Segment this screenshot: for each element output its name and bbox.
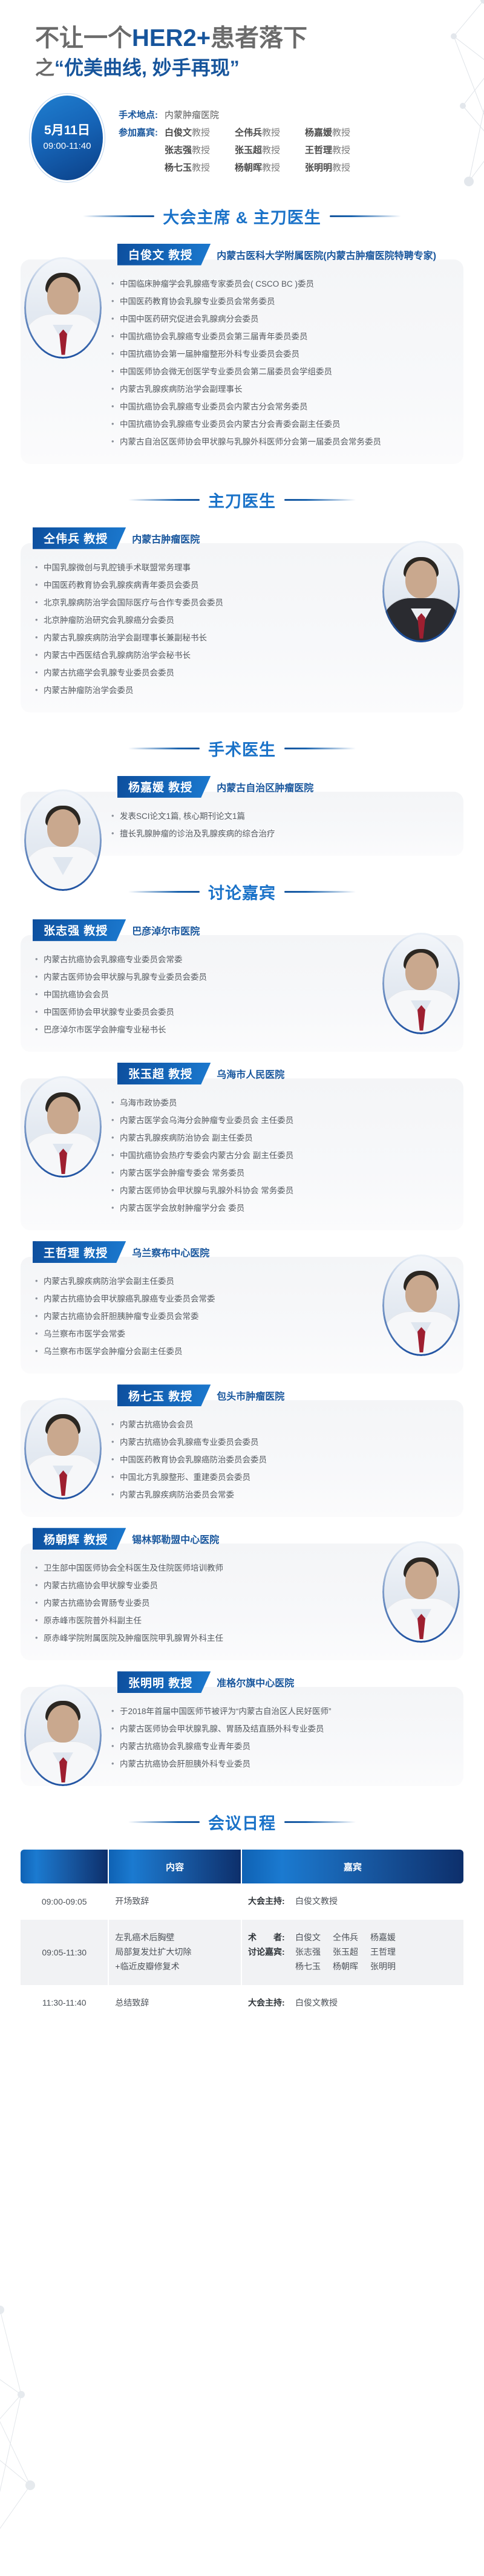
section-header-agenda: 会议日程 [0,1810,484,1834]
credential-item: 内蒙古抗癌协会会员 [111,1416,449,1433]
agenda-guests: 大会主持:白俊文教授 [242,1883,463,1920]
agenda-guest-name: 张志强 [295,1945,333,1960]
photo-tie [59,330,67,355]
credential-item: 内蒙古抗癌协会乳腺癌专业委员会委员 [111,1433,449,1451]
guest-lines: 参加嘉宾:白俊文教授仝伟兵教授杨嘉媛教授参加嘉宾:张志强教授张玉超教授王哲理教授… [119,124,484,177]
credential-item: 卫生部中国医师协会全科医生及住院医师培训教师 [35,1559,373,1577]
photo-tie [417,1005,425,1031]
photo-coat [24,1455,102,1499]
divider-right [330,215,401,217]
guest-name: 张玉超教授 [235,142,305,159]
credential-item: 原赤峰学院附属医院及肿瘤医院甲乳腺胃外科主任 [35,1629,373,1647]
photo-background [24,1684,102,1786]
credential-item: 中国医药教育协会乳腺疾病青年委员会委员 [35,576,373,594]
credential-item: 中国中医药研究促进会乳腺病分会委员 [111,310,449,328]
credential-item: 中国抗癌协会乳腺癌专业委员会第三届青年委员委员 [111,328,449,345]
doctor-card-inner: 杨七玉 教授包头市肿瘤医院内蒙古抗癌协会会员内蒙古抗癌协会乳腺癌专业委员会委员中… [21,1384,463,1517]
divider-left [128,499,200,501]
location-label: 手术地点: [119,106,165,124]
section-title: 大会主席 & 主刀医生 [163,204,321,228]
doctor-photo [382,541,460,642]
title-prefix: 不让一个 [35,25,132,51]
doctor-card-inner: 仝伟兵 教授内蒙古肿瘤医院中国乳腺微创与乳腔镜手术联盟常务理事中国医药教育协会乳… [21,527,463,712]
agenda-guest-row: 术 者:白俊文仝伟兵杨嘉媛 [248,1931,457,1945]
divider-left [128,1821,200,1823]
photo-face [405,561,437,598]
doctor-name-tag: 张玉超 教授 [117,1063,211,1084]
guest-row: 参加嘉宾:白俊文教授仝伟兵教授杨嘉媛教授 [119,124,484,142]
doctor-credentials-list: 内蒙古乳腺疾病防治学会副主任委员内蒙古抗癌协会甲状腺癌乳腺癌专业委员会常委内蒙古… [35,1273,373,1360]
credential-item: 内蒙古医师协会甲状腺与乳腺外科协会 常务委员 [111,1182,449,1199]
guest-name: 张明明教授 [305,159,375,177]
photo-tie [417,1327,425,1352]
doctor-name-tag: 杨嘉媛 教授 [117,776,211,798]
photo-background [382,1254,460,1356]
photo-hair [45,1414,80,1435]
doctor-card-inner: 杨嘉媛 教授内蒙古自治区肿瘤医院发表SCI论文1篇, 核心期刊论文1篇擅长乳腺肿… [21,776,463,856]
agenda-guest-row: 大会主持:白俊文教授 [248,1996,457,2010]
photo-background [382,933,460,1034]
doctor-card: 张玉超 教授乌海市人民医院乌海市政协委员内蒙古医学会乌海分会肿瘤专业委员会 主任… [0,1063,484,1230]
credential-item: 乌海市政协委员 [111,1094,449,1112]
doctor-photo [24,257,102,359]
photo-background [382,1541,460,1643]
section-title: 会议日程 [208,1810,276,1834]
agenda-guest-role: 大会主持: [248,1894,295,1909]
credential-item: 中国抗癌协会第一届肿瘤整形外科专业委员会委员 [111,345,449,363]
credential-item: 中国临床肿瘤学会乳腺癌专家委员会( CSCO BC )委员 [111,275,449,293]
agenda-guest-name: 仝伟兵 [333,1931,370,1945]
agenda-guest-name: 张明明 [370,1960,408,1974]
photo-background [24,1398,102,1499]
doctor-slot-chair: 白俊文 教授内蒙古医科大学附属医院(内蒙古肿瘤医院特聘专家)中国临床肿瘤学会乳腺… [0,244,484,464]
section-title: 讨论嘉宾 [208,880,276,904]
agenda-column-header-0 [21,1850,109,1883]
credential-item: 中国抗癌协会会员 [35,986,373,1003]
divider-left [83,215,154,217]
credential-item: 中国医师协会微无创医学专业委员会第二届委员会学组委员 [111,363,449,380]
doctor-card: 张明明 教授准格尔旗中心医院于2018年首届中国医师节被评为“内蒙古自治区人民好… [0,1671,484,1786]
credential-item: 内蒙古医学会放射肿瘤学分会 委员 [111,1199,449,1217]
credential-item: 中国医药教育协会乳腺专业委员会常务委员 [111,293,449,310]
agenda-content-line: 开场致辞 [115,1894,235,1909]
divider-right [284,748,356,749]
doctor-card: 王哲理 教授乌兰察布中心医院内蒙古乳腺疾病防治学会副主任委员内蒙古抗癌协会甲状腺… [0,1241,484,1374]
credential-item: 北京乳腺病防治学会国际医疗与合作专委员会委员 [35,594,373,611]
photo-background [24,257,102,359]
doctor-credentials-list: 乌海市政协委员内蒙古医学会乌海分会肿瘤专业委员会 主任委员内蒙古乳腺疾病防治协会… [111,1094,449,1217]
photo-collar [411,1609,431,1627]
agenda-guest-row: 大会主持:白俊文教授 [248,1894,457,1909]
credential-item: 擅长乳腺肿瘤的诊治及乳腺疾病的综合治疗 [111,825,449,843]
photo-face [47,809,79,847]
photo-collar [53,1752,73,1770]
doctor-slot-panel: 张志强 教授巴彦淖尔市医院内蒙古抗癌协会乳腺癌专业委员会常委内蒙古医师协会甲状腺… [0,919,484,1786]
doctor-card-inner: 白俊文 教授内蒙古医科大学附属医院(内蒙古肿瘤医院特聘专家)中国临床肿瘤学会乳腺… [21,244,463,464]
location-value: 内蒙肿瘤医院 [165,106,219,124]
event-info: 5月11日 09:00-11:40 手术地点: 内蒙肿瘤医院 参加嘉宾:白俊文教… [0,80,484,180]
page-title: 不让一个HER2+患者落下 [35,24,484,53]
photo-tie [417,613,425,639]
agenda-body: 09:00-09:05开场致辞大会主持:白俊文教授09:05-11:30左乳癌术… [21,1883,463,2021]
agenda-guest-row: 讨论嘉宾:张志强张玉超王哲理 [248,1945,457,1960]
agenda-guests: 大会主持:白俊文教授 [242,1985,463,2021]
doctor-card: 杨嘉媛 教授内蒙古自治区肿瘤医院发表SCI论文1篇, 核心期刊论文1篇擅长乳腺肿… [0,776,484,856]
divider-right [284,891,356,893]
photo-coat [24,314,102,359]
doctor-name-tag: 白俊文 教授 [117,244,211,266]
section-header-chair: 大会主席 & 主刀医生 [0,204,484,228]
doctor-card-inner: 张志强 教授巴彦淖尔市医院内蒙古抗癌协会乳腺癌专业委员会常委内蒙古医师协会甲状腺… [21,919,463,1052]
credential-item: 内蒙古抗癌协会甲状腺专业委员 [35,1577,373,1594]
doctor-credentials-list: 中国临床肿瘤学会乳腺癌专家委员会( CSCO BC )委员中国医药教育协会乳腺专… [111,275,449,451]
agenda-content: 总结致辞 [109,1985,242,2021]
doctor-card-inner: 王哲理 教授乌兰察布中心医院内蒙古乳腺疾病防治学会副主任委员内蒙古抗癌协会甲状腺… [21,1241,463,1374]
photo-coat [382,1598,460,1643]
photo-tie [59,1149,67,1174]
photo-collar [411,608,431,627]
agenda-guest-name: 杨七玉 [295,1960,333,1974]
photo-face [47,1097,79,1134]
guest-row: 参加嘉宾:张志强教授张玉超教授王哲理教授 [119,142,484,159]
agenda-time: 09:05-11:30 [21,1920,109,1984]
doctor-photo [24,789,102,891]
photo-collar [53,1144,73,1162]
credential-item: 中国抗癌协会乳腺癌专业委员会内蒙古分会常务委员 [111,398,449,416]
credential-item: 内蒙古医学会肿瘤专委会 常务委员 [111,1164,449,1182]
date-badge: 5月11日 09:00-11:40 [31,96,103,180]
credential-item: 原赤峰市医院普外科副主任 [35,1612,373,1629]
doctor-credentials-list: 中国乳腺微创与乳腔镜手术联盟常务理事中国医药教育协会乳腺疾病青年委员会委员北京乳… [35,559,373,699]
photo-coat [24,1133,102,1178]
credential-item: 内蒙古自治区医师协会甲状腺与乳腺外科医师分会第一届委员会常务委员 [111,433,449,451]
photo-collar [411,1322,431,1340]
photo-collar [411,1000,431,1019]
agenda-column-header-1: 内容 [109,1850,242,1883]
photo-face [47,277,79,315]
photo-background [382,541,460,642]
credential-item: 发表SCI论文1篇, 核心期刊论文1篇 [111,807,449,825]
doctor-card: 杨七玉 教授包头市肿瘤医院内蒙古抗癌协会会员内蒙古抗癌协会乳腺癌专业委员会委员中… [0,1384,484,1517]
credential-item: 中国抗癌协会乳腺癌专业委员会内蒙古分会青委会副主任委员 [111,416,449,433]
doctor-photo [24,1684,102,1786]
agenda-guest-role: 术 者: [248,1931,295,1945]
credential-item: 内蒙古医学会乌海分会肿瘤专业委员会 主任委员 [111,1112,449,1129]
photo-face [405,953,437,990]
credential-item: 北京肿瘤防治研究会乳腺癌分会委员 [35,611,373,629]
photo-face [47,1418,79,1456]
section-header-surgeon: 主刀医生 [0,488,484,512]
credential-item: 内蒙古肿瘤防治学会委员 [35,682,373,699]
doctor-credentials-list: 内蒙古抗癌协会乳腺癌专业委员会常委内蒙古医师协会甲状腺与乳腺专业委员会委员中国抗… [35,951,373,1039]
event-time: 09:00-11:40 [44,140,91,152]
doctor-name-tag: 仝伟兵 教授 [33,527,126,549]
doctor-name-tag: 王哲理 教授 [33,1241,126,1263]
credential-item: 中国医药教育协会乳腺癌防治委员会委员 [111,1451,449,1469]
doctor-hospital: 准格尔旗中心医院 [217,1675,294,1689]
agenda-guests: 术 者:白俊文仝伟兵杨嘉媛讨论嘉宾:张志强张玉超王哲理杨七玉杨朝晖张明明 [242,1920,463,1984]
agenda-section: 内容嘉宾 09:00-09:05开场致辞大会主持:白俊文教授09:05-11:3… [21,1850,463,2021]
doctor-name-tag: 张志强 教授 [33,919,126,941]
credential-item: 巴彦淖尔市医学会肿瘤专业秘书长 [35,1021,373,1039]
doctor-credentials-list: 发表SCI论文1篇, 核心期刊论文1篇擅长乳腺肿瘤的诊治及乳腺疾病的综合治疗 [111,807,449,843]
credential-item: 于2018年首届中国医师节被评为“内蒙古自治区人民好医师” [111,1703,449,1720]
divider-right [284,499,356,501]
subtitle-highlight: “优美曲线, 妙手再现” [54,57,240,79]
guest-name: 杨嘉媛教授 [305,124,375,142]
doctor-slot-surgeon: 仝伟兵 教授内蒙古肿瘤医院中国乳腺微创与乳腔镜手术联盟常务理事中国医药教育协会乳… [0,527,484,712]
location-line: 手术地点: 内蒙肿瘤医院 [119,106,484,124]
agenda-guest-role: 讨论嘉宾: [248,1945,295,1960]
doctor-hospital: 巴彦淖尔市医院 [132,923,200,937]
network-decoration-bottom-left [0,2304,157,2558]
credential-item: 中国乳腺微创与乳腔镜手术联盟常务理事 [35,559,373,576]
doctor-hospital: 内蒙古肿瘤医院 [132,531,200,546]
agenda-content: 开场致辞 [109,1883,242,1920]
doctor-card-inner: 杨朝辉 教授锡林郭勒盟中心医院卫生部中国医师协会全科医生及住院医师培训教师内蒙古… [21,1528,463,1660]
credential-item: 中国北方乳腺整形、重建委员会委员 [111,1469,449,1486]
guest-name: 杨七玉教授 [165,159,235,177]
section-header-operating: 手术医生 [0,737,484,760]
title-highlight: HER2+ [132,25,211,51]
guest-name: 仝伟兵教授 [235,124,305,142]
divider-left [128,891,200,893]
guests-label: 参加嘉宾: [119,124,165,142]
doctor-photo [24,1076,102,1178]
photo-face [47,1705,79,1743]
credential-item: 内蒙古乳腺疾病防治学会副理事长兼副秘书长 [35,629,373,647]
guest-names: 白俊文教授仝伟兵教授杨嘉媛教授 [165,124,375,142]
page-subtitle: 之“优美曲线, 妙手再现” [35,56,484,79]
agenda-guest-names: 白俊文教授 [295,1894,457,1909]
doctor-hospital: 包头市肿瘤医院 [217,1388,284,1403]
credential-item: 内蒙古抗癌协会乳腺癌专业委员会常委 [35,951,373,968]
guest-row: 参加嘉宾:杨七玉教授杨朝晖教授张明明教授 [119,159,484,177]
section-title: 主刀医生 [208,488,276,512]
event-details: 手术地点: 内蒙肿瘤医院 参加嘉宾:白俊文教授仝伟兵教授杨嘉媛教授参加嘉宾:张志… [103,96,484,177]
photo-hair [404,949,439,970]
guest-name: 白俊文教授 [165,124,235,142]
photo-hair [404,557,439,578]
credential-item: 内蒙古乳腺疾病防治协会 副主任委员 [111,1129,449,1147]
credential-item: 内蒙古乳腺疾病防治委员会常委 [111,1486,449,1504]
poster-header: 不让一个HER2+患者落下 之“优美曲线, 妙手再现” [0,0,484,80]
doctor-card: 张志强 教授巴彦淖尔市医院内蒙古抗癌协会乳腺癌专业委员会常委内蒙古医师协会甲状腺… [0,919,484,1052]
doctor-credentials-list: 于2018年首届中国医师节被评为“内蒙古自治区人民好医师”内蒙古医师协会甲状腺乳… [111,1703,449,1773]
doctor-hospital: 内蒙古医科大学附属医院(内蒙古肿瘤医院特聘专家) [217,247,436,262]
doctor-name-tag: 张明明 教授 [117,1671,211,1693]
doctor-photo [24,1398,102,1499]
agenda-content: 左乳癌术后胸壁局部复发灶扩大切除+临近皮瓣修复术 [109,1920,242,1984]
photo-background [24,789,102,891]
credential-item: 内蒙古抗癌学会乳腺专业委员会委员 [35,664,373,682]
photo-tie [59,1757,67,1782]
agenda-guest-names: 白俊文教授 [295,1996,457,2010]
photo-tie [417,1614,425,1639]
photo-collar [53,325,73,343]
agenda-content-line: 局部复发灶扩大切除 [115,1945,235,1960]
agenda-content-line: +临近皮瓣修复术 [115,1960,235,1974]
agenda-content-line: 左乳癌术后胸壁 [115,1931,235,1945]
agenda-guest-row: 杨七玉杨朝晖张明明 [248,1960,457,1974]
divider-right [284,1821,356,1823]
agenda-time: 09:00-09:05 [21,1883,109,1920]
photo-hair [45,1092,80,1113]
agenda-guest-name: 张玉超 [333,1945,370,1960]
doctor-photo [382,933,460,1034]
photo-coat [24,1741,102,1786]
agenda-guest-names: 杨七玉杨朝晖张明明 [295,1960,457,1974]
agenda-guest-name: 白俊文 [295,1931,333,1945]
section-title: 手术医生 [208,737,276,760]
doctor-credentials-list: 卫生部中国医师协会全科医生及住院医师培训教师内蒙古抗癌协会甲状腺专业委员内蒙古抗… [35,1559,373,1647]
credential-item: 内蒙古抗癌协会肝胆胰外科专业委员 [111,1755,449,1773]
doctor-name-tag: 杨朝辉 教授 [33,1528,126,1550]
subtitle-prefix: 之 [35,57,54,79]
divider-left [128,748,200,749]
guest-names: 张志强教授张玉超教授王哲理教授 [165,142,375,159]
photo-hair [45,273,80,293]
agenda-time: 11:30-11:40 [21,1985,109,2021]
doctor-name-tag: 杨七玉 教授 [117,1384,211,1406]
photo-hair [404,1271,439,1291]
doctor-photo [382,1541,460,1643]
doctor-card-inner: 张玉超 教授乌海市人民医院乌海市政协委员内蒙古医学会乌海分会肿瘤专业委员会 主任… [21,1063,463,1230]
agenda-row: 11:30-11:40总结致辞大会主持:白俊文教授 [21,1985,463,2021]
agenda-guest-names: 张志强张玉超王哲理 [295,1945,457,1960]
credential-item: 中国医师协会甲状腺专业委员会委员 [35,1003,373,1021]
doctor-card: 杨朝辉 教授锡林郭勒盟中心医院卫生部中国医师协会全科医生及住院医师培训教师内蒙古… [0,1528,484,1660]
agenda-guest-name: 白俊文教授 [295,1894,338,1909]
agenda-content-line: 总结致辞 [115,1996,235,2010]
guest-names: 杨七玉教授杨朝晖教授张明明教授 [165,159,375,177]
agenda-header-row: 内容嘉宾 [21,1850,463,1883]
photo-coat [382,1311,460,1356]
agenda-guest-name: 王哲理 [370,1945,408,1960]
credential-item: 内蒙古抗癌协会肝胆胰肿瘤专业委员会常委 [35,1308,373,1325]
doctor-photo [382,1254,460,1356]
photo-tie [59,1470,67,1496]
credential-item: 内蒙古乳腺疾病防治学会副主任委员 [35,1273,373,1290]
photo-hair [45,1701,80,1721]
event-date: 5月11日 [44,123,90,139]
photo-hair [45,806,80,826]
credential-item: 内蒙古中西医结合乳腺病防治学会秘书长 [35,647,373,664]
doctor-slot-operating: 杨嘉媛 教授内蒙古自治区肿瘤医院发表SCI论文1篇, 核心期刊论文1篇擅长乳腺肿… [0,776,484,856]
doctor-card: 白俊文 教授内蒙古医科大学附属医院(内蒙古肿瘤医院特聘专家)中国临床肿瘤学会乳腺… [0,244,484,464]
doctor-hospital: 锡林郭勒盟中心医院 [132,1531,219,1546]
agenda-guest-names: 白俊文仝伟兵杨嘉媛 [295,1931,457,1945]
credential-item: 中国抗癌协会热疗专委会内蒙古分会 副主任委员 [111,1147,449,1164]
photo-hair [404,1557,439,1578]
credential-item: 乌兰察布市医学会肿瘤分会副主任委员 [35,1343,373,1360]
doctor-hospital: 乌海市人民医院 [217,1066,284,1081]
credential-item: 内蒙古抗癌协会胃肠专业委员 [35,1594,373,1612]
agenda-row: 09:00-09:05开场致辞大会主持:白俊文教授 [21,1883,463,1920]
photo-face [405,1562,437,1599]
agenda-guest-name: 白俊文教授 [295,1996,338,2010]
agenda-guest-name: 杨朝晖 [333,1960,370,1974]
credential-item: 内蒙古抗癌协会乳腺癌专业青年委员 [111,1738,449,1755]
agenda-row: 09:05-11:30左乳癌术后胸壁局部复发灶扩大切除+临近皮瓣修复术术 者:白… [21,1920,463,1984]
doctor-hospital: 乌兰察布中心医院 [132,1245,209,1259]
doctor-credentials-list: 内蒙古抗癌协会会员内蒙古抗癌协会乳腺癌专业委员会委员中国医药教育协会乳腺癌防治委… [111,1416,449,1504]
agenda-column-header-2: 嘉宾 [242,1850,463,1883]
guest-name: 杨朝晖教授 [235,159,305,177]
doctor-card-inner: 张明明 教授准格尔旗中心医院于2018年首届中国医师节被评为“内蒙古自治区人民好… [21,1671,463,1786]
photo-collar [53,857,73,875]
photo-coat [382,990,460,1034]
credential-item: 内蒙古抗癌协会甲状腺癌乳腺癌专业委员会常委 [35,1290,373,1308]
photo-coat [382,598,460,642]
section-header-panel: 讨论嘉宾 [0,880,484,904]
agenda-table: 内容嘉宾 09:00-09:05开场致辞大会主持:白俊文教授09:05-11:3… [21,1850,463,2021]
guest-name: 王哲理教授 [305,142,375,159]
credential-item: 乌兰察布市医学会常委 [35,1325,373,1343]
doctor-card: 仝伟兵 教授内蒙古肿瘤医院中国乳腺微创与乳腔镜手术联盟常务理事中国医药教育协会乳… [0,527,484,712]
photo-face [405,1275,437,1312]
credential-item: 内蒙古医师协会甲状腺与乳腺专业委员会委员 [35,968,373,986]
photo-background [24,1076,102,1178]
credential-item: 内蒙古医师协会甲状腺乳腺、胃肠及结直肠外科专业委员 [111,1720,449,1738]
guest-name: 张志强教授 [165,142,235,159]
doctor-hospital: 内蒙古自治区肿瘤医院 [217,780,313,794]
agenda-guest-role: 大会主持: [248,1996,295,2010]
photo-collar [53,1466,73,1484]
title-suffix: 患者落下 [211,25,307,51]
agenda-guest-name: 杨嘉媛 [370,1931,408,1945]
credential-item: 内蒙古乳腺疾病防治学会副理事长 [111,380,449,398]
